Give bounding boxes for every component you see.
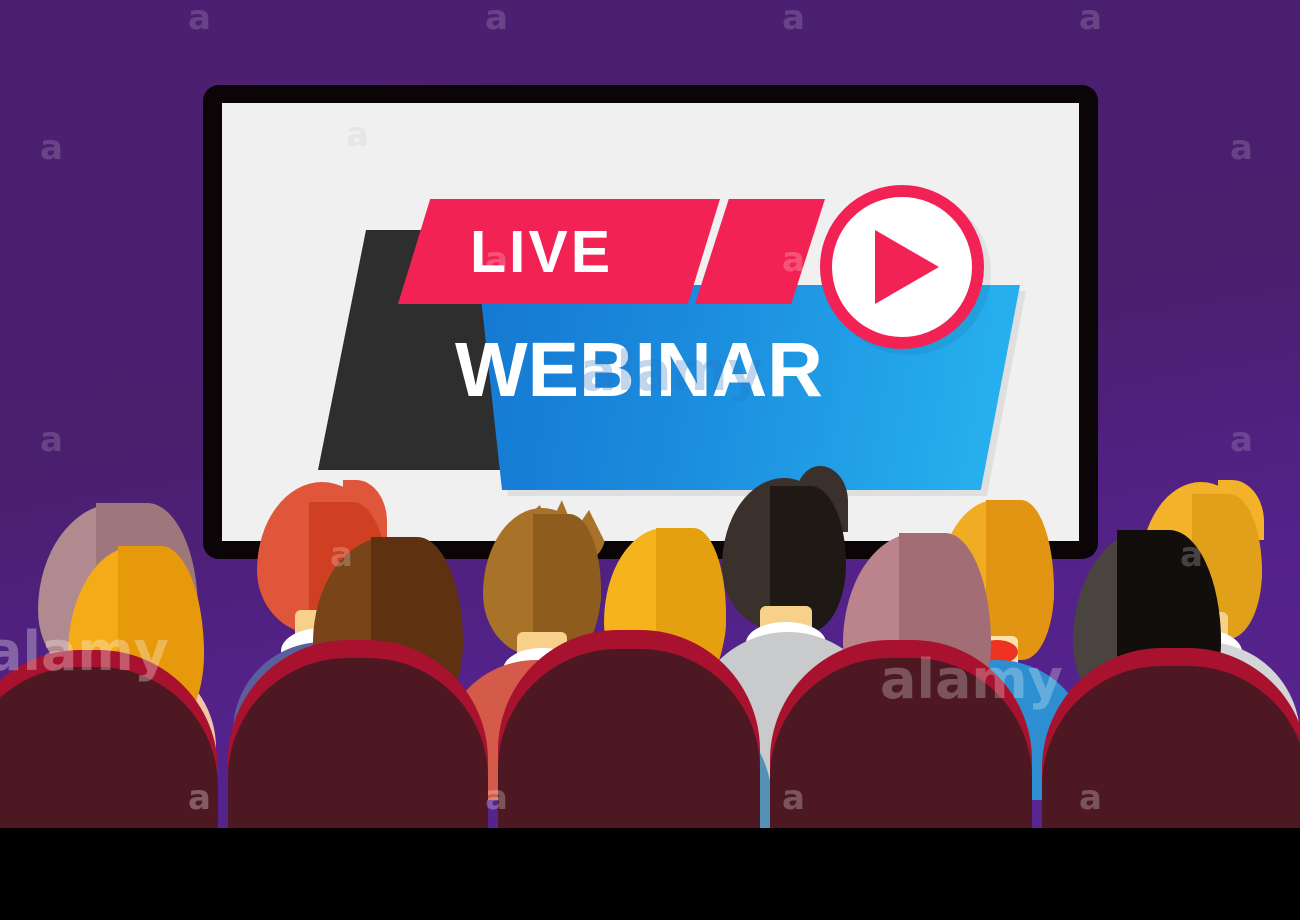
illustration-canvas: a a a a a a a a a LIVE WEBINAR alamy a a — [0, 0, 1300, 828]
watermark-letter: a — [1079, 0, 1102, 38]
watermark-letter: a — [1230, 420, 1253, 460]
watermark-letter: a — [782, 0, 805, 38]
watermark-letter: a — [1230, 128, 1253, 168]
screenshot-root: a a a a a a a a a LIVE WEBINAR alamy a a — [0, 0, 1300, 920]
live-label: LIVE — [470, 211, 720, 293]
watermark-letter: a — [485, 0, 508, 38]
play-triangle-icon[interactable] — [875, 230, 939, 304]
live-webinar-badge: LIVE WEBINAR — [310, 185, 1000, 505]
watermark-letter: a — [40, 128, 63, 168]
watermark-letter: a — [40, 420, 63, 460]
watermark-letter: a — [346, 115, 369, 155]
watermark-letter: a — [188, 0, 211, 38]
alamy-footer-bar: alamy Image ID: 2H8WJHP www.alamy.com — [0, 828, 1300, 920]
